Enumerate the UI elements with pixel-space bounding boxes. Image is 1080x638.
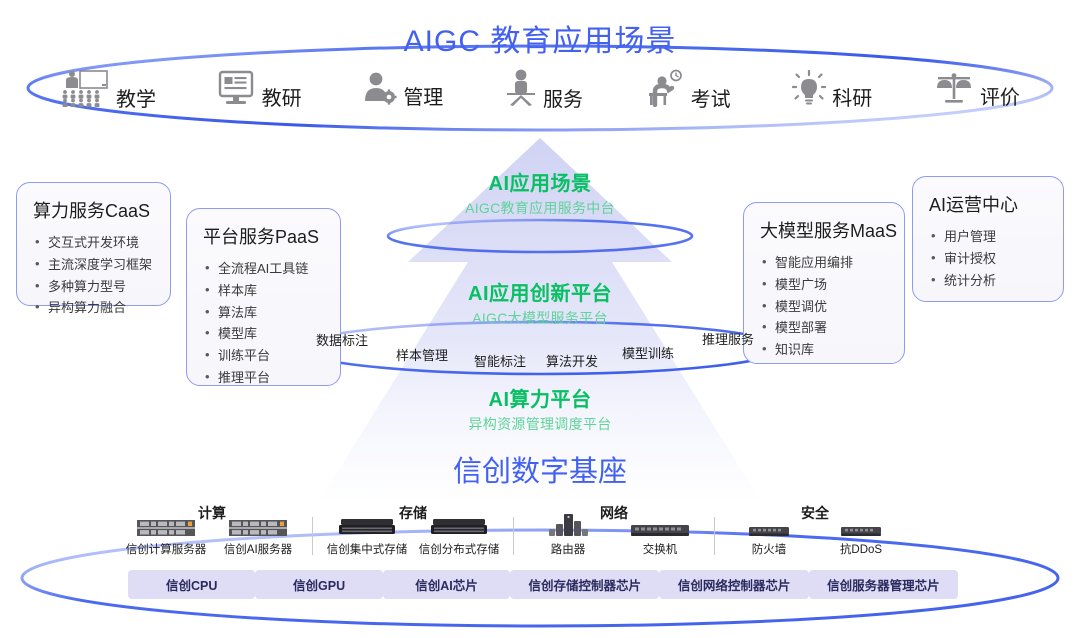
ring-label-model-training[interactable]: 模型训练 [622, 343, 674, 362]
scenario-item-teaching[interactable]: 教学 [60, 69, 156, 112]
group-divider [513, 517, 514, 555]
ring-label-algorithm-dev[interactable]: 算法开发 [546, 351, 598, 370]
scenario-item-service[interactable]: 服务 [505, 69, 583, 112]
chip-gpu[interactable]: 信创GPU [255, 570, 382, 599]
card-title: 大模型服务MaaS [760, 217, 890, 243]
tier-title: AI应用创新平台 [0, 282, 1080, 306]
infrastructure-row: 计算 [120, 505, 960, 557]
scenario-label: 教研 [262, 89, 302, 111]
exam-desk-clock-icon [645, 69, 685, 112]
card-title: 平台服务PaaS [203, 223, 326, 249]
scenario-row: 教学 教研 [60, 62, 1020, 118]
infra-item-name: 信创集中式存储 [327, 541, 408, 557]
infra-group-title: 安全 [723, 503, 907, 523]
ring-label-inference-service[interactable]: 推理服务 [702, 329, 754, 348]
infra-item-name: 路由器 [551, 541, 586, 557]
scenario-item-exam[interactable]: 考试 [645, 69, 731, 112]
infra-group-title: 计算 [120, 503, 304, 523]
chip-storage-ctrl[interactable]: 信创存储控制器芯片 [510, 570, 659, 599]
infra-item-name: 抗DDoS [840, 541, 882, 557]
chip-ai-chip[interactable]: 信创AI芯片 [383, 570, 510, 599]
list-item: 交互式开发环境 [33, 232, 156, 254]
chip-row: 信创CPU 信创GPU 信创AI芯片 信创存储控制器芯片 信创网络控制器芯片 信… [128, 570, 958, 599]
infra-item-name: 信创AI服务器 [224, 541, 292, 557]
tier-subtitle: 异构资源管理调度平台 [0, 414, 1080, 434]
group-divider [312, 517, 313, 555]
scenario-label: 考试 [691, 90, 731, 112]
infra-item-name: 信创分布式存储 [419, 541, 500, 557]
list-item: 训练平台 [203, 345, 326, 367]
group-divider [714, 517, 715, 555]
ring-label-sample-management[interactable]: 样本管理 [396, 345, 448, 364]
ring-label-smart-annotation[interactable]: 智能标注 [474, 351, 526, 370]
infra-group-security: 安全 防火墙 [723, 505, 907, 557]
scenario-label: 管理 [403, 88, 443, 110]
scenario-item-evaluation[interactable]: 评价 [934, 71, 1020, 110]
list-item: 审计授权 [929, 248, 1049, 270]
tier-ai-compute-platform: AI算力平台 异构资源管理调度平台 [0, 388, 1080, 434]
infra-group-storage: 存储 信创集中式存储 [321, 505, 505, 557]
classroom-icon [60, 69, 110, 112]
lightbulb-icon [792, 70, 826, 111]
list-item: 主流深度学习框架 [33, 254, 156, 276]
chip-cpu[interactable]: 信创CPU [128, 570, 255, 599]
chip-server-mgmt[interactable]: 信创服务器管理芯片 [809, 570, 958, 599]
infra-group-title: 存储 [321, 503, 505, 523]
ring-label-data-annotation[interactable]: 数据标注 [316, 330, 368, 349]
scenario-item-scientific-research[interactable]: 科研 [792, 70, 872, 111]
scenario-item-management[interactable]: 管理 [363, 71, 443, 110]
diagram-canvas: AIGC 教育应用场景 [0, 0, 1080, 638]
person-service-icon [505, 69, 537, 112]
list-item: 全流程AI工具链 [203, 258, 326, 280]
list-item: 用户管理 [929, 226, 1049, 248]
chip-network-ctrl[interactable]: 信创网络控制器芯片 [659, 570, 808, 599]
list-item: 知识库 [760, 339, 890, 361]
list-item: 推理平台 [203, 367, 326, 389]
scenario-label: 评价 [980, 88, 1020, 110]
infra-item-name: 信创计算服务器 [126, 541, 207, 557]
monitor-icon [218, 70, 256, 111]
tier-title: AI算力平台 [0, 388, 1080, 412]
tier-title: AI应用场景 [0, 172, 1080, 196]
page-title: AIGC 教育应用场景 [0, 16, 1080, 60]
tier-subtitle: AIGC教育应用服务中台 [0, 198, 1080, 218]
tier-ai-application-scenario: AI应用场景 AIGC教育应用服务中台 [0, 172, 1080, 218]
person-gear-icon [363, 71, 397, 110]
tier-subtitle: AIGC大模型服务平台 [0, 308, 1080, 328]
list-item: 智能应用编排 [760, 252, 890, 274]
infra-group-title: 网络 [522, 503, 706, 523]
scenario-label: 科研 [832, 89, 872, 111]
infra-group-network: 网络 路由器 [522, 505, 706, 557]
base-title: 信创数字基座 [0, 448, 1080, 490]
scenario-item-research-teaching[interactable]: 教研 [218, 70, 302, 111]
infra-group-compute: 计算 [120, 505, 304, 557]
infra-item-name: 交换机 [643, 541, 678, 557]
scenario-label: 教学 [116, 90, 156, 112]
infra-item-name: 防火墙 [752, 541, 787, 557]
balance-scale-icon [934, 71, 974, 110]
tier-ai-innovation-platform: AI应用创新平台 AIGC大模型服务平台 [0, 282, 1080, 328]
scenario-label: 服务 [543, 90, 583, 112]
